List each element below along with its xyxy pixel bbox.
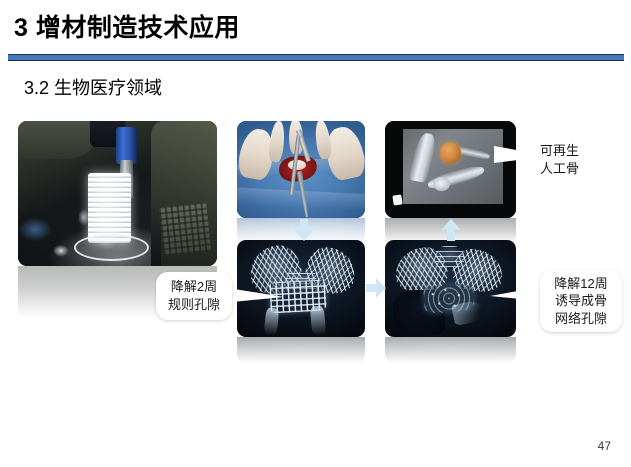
callout-line: 降解12周 <box>554 275 607 293</box>
printer-machine-body-left <box>18 121 98 159</box>
callout-degrade-12-weeks: 降解12周 诱导成骨 网络孔隙 <box>540 270 622 332</box>
implant-surgery-photo <box>237 121 365 218</box>
callout-line: 诱导成骨 <box>555 292 607 310</box>
section-subtitle: 3.2 生物医疗领域 <box>24 74 162 100</box>
callout-line: 网络孔隙 <box>555 310 607 328</box>
arrow-ct2-to-xray <box>441 219 461 241</box>
callout-regenerable-bone: 可再生 人工骨 <box>540 142 579 177</box>
arrow-ct1-to-ct2 <box>366 278 386 298</box>
callout-line: 规则孔隙 <box>168 296 220 314</box>
page-number: 47 <box>598 439 611 453</box>
printer-nozzle-holder <box>116 127 138 165</box>
callout-line: 降解2周 <box>171 278 217 296</box>
surgery-drape-background <box>237 121 365 218</box>
surgeon-finger <box>268 121 286 162</box>
printer-grate-panel <box>159 203 212 257</box>
ct-bone-neck <box>435 246 464 267</box>
arrow-surgery-to-ct1 <box>294 219 314 241</box>
ct-bone-shaft-left <box>264 307 280 335</box>
3d-printing-scaffold-photo <box>18 121 217 266</box>
xray-implant-highlight <box>440 142 461 163</box>
title-divider-rule <box>8 54 624 61</box>
xray-corner-marker <box>392 194 402 205</box>
callout-degrade-2-weeks: 降解2周 规则孔隙 <box>156 272 232 320</box>
ct2-photo-reflection <box>385 337 516 363</box>
ct1-photo-reflection <box>237 337 365 363</box>
ct-bone-shaft-right <box>310 305 327 335</box>
callout-line: 人工骨 <box>540 160 579 178</box>
surgeon-finger <box>314 121 333 160</box>
xray-lightbox-background <box>385 121 516 218</box>
printed-scaffold-cylinder <box>88 173 132 243</box>
page-title: 3 增材制造技术应用 <box>14 15 240 43</box>
xray-implant-photo <box>385 121 516 218</box>
printer-scene-background <box>18 121 217 266</box>
callout-line: 可再生 <box>540 142 579 160</box>
